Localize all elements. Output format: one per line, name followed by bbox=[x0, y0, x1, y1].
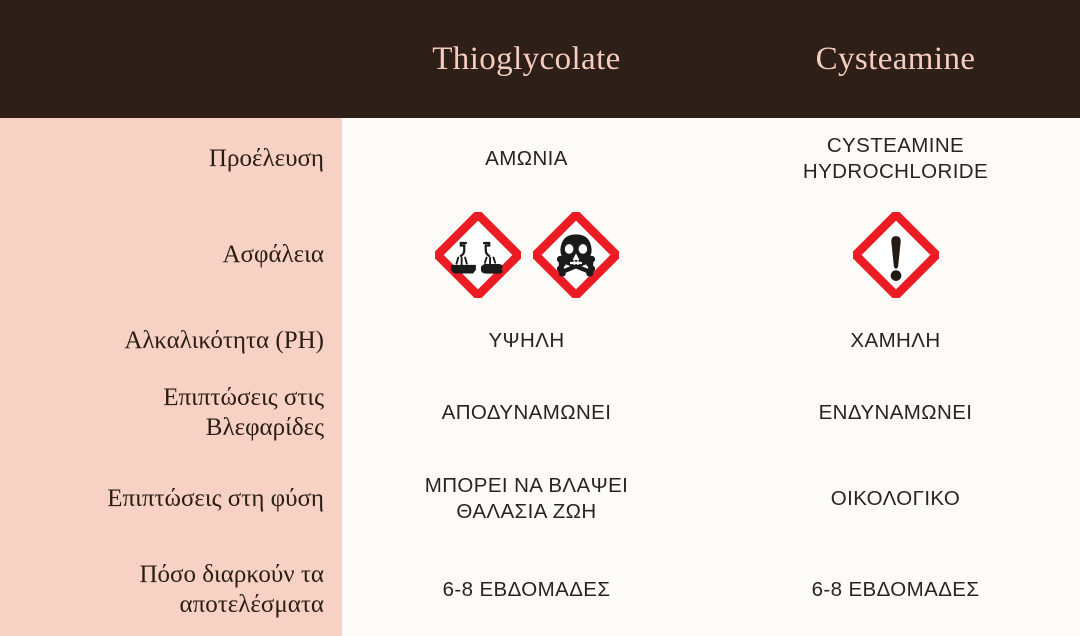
cell-thioglycolate-lash-effects: ΑΠΟΔΥΝΑΜΩΝΕΙ bbox=[342, 372, 711, 454]
cell-cysteamine-safety bbox=[711, 200, 1080, 310]
cell-value-text: ΕΝΔΥΝΑΜΩΝΕΙ bbox=[819, 400, 973, 426]
cell-thioglycolate-nature-effects: ΜΠΟΡΕΙ ΝΑ ΒΛΑΨΕΙΘΑΛΑΣΙΑ ΖΩΗ bbox=[342, 454, 711, 544]
header-title-thioglycolate: Thioglycolate bbox=[432, 41, 620, 78]
row-label-nature-effects: Επιπτώσεις στη φύση bbox=[0, 454, 342, 544]
cell-thioglycolate-origin: ΑΜΩΝΙΑ bbox=[342, 118, 711, 200]
table-row: Αλκαλικότητα (PH) ΥΨΗΛΗ ΧΑΜΗΛΗ bbox=[0, 310, 1080, 372]
header-column-cysteamine: Cysteamine bbox=[711, 0, 1080, 118]
row-label-text: Αλκαλικότητα (PH) bbox=[124, 326, 324, 357]
row-label-origin: Προέλευση bbox=[0, 118, 342, 200]
cell-value-text: ΥΨΗΛΗ bbox=[488, 328, 564, 354]
table-row: Επιπτώσεις στιςΒλεφαρίδες ΑΠΟΔΥΝΑΜΩΝΕΙ Ε… bbox=[0, 372, 1080, 454]
cell-value-text: 6-8 ΕΒΔΟΜΑΔΕΣ bbox=[443, 577, 611, 603]
cell-thioglycolate-safety bbox=[342, 200, 711, 310]
header-column-thioglycolate: Thioglycolate bbox=[342, 0, 711, 118]
row-label-text: Πόσο διαρκούν τααποτελέσματα bbox=[140, 560, 325, 621]
cell-value-text: ΑΠΟΔΥΝΑΜΩΝΕΙ bbox=[442, 400, 612, 426]
row-label-safety: Ασφάλεια bbox=[0, 200, 342, 310]
cell-cysteamine-alkalinity: ΧΑΜΗΛΗ bbox=[711, 310, 1080, 372]
row-label-alkalinity: Αλκαλικότητα (PH) bbox=[0, 310, 342, 372]
header-column-titles: Thioglycolate Cysteamine bbox=[342, 0, 1080, 118]
cell-thioglycolate-duration: 6-8 ΕΒΔΟΜΑΔΕΣ bbox=[342, 544, 711, 636]
pictogram-group bbox=[435, 212, 619, 298]
cell-value-text: 6-8 ΕΒΔΟΜΑΔΕΣ bbox=[812, 577, 980, 603]
table-body: Προέλευση ΑΜΩΝΙΑ CYSTEAMINEHYDROCHLORIDE… bbox=[0, 118, 1080, 636]
cell-value-text: CYSTEAMINEHYDROCHLORIDE bbox=[803, 133, 988, 185]
header-title-cysteamine: Cysteamine bbox=[816, 41, 976, 78]
table-row: Πόσο διαρκούν τααποτελέσματα 6-8 ΕΒΔΟΜΑΔ… bbox=[0, 544, 1080, 636]
cell-value-text: ΧΑΜΗΛΗ bbox=[850, 328, 940, 354]
ghs-skull-crossbones-icon bbox=[533, 212, 619, 298]
ghs-corrosion-icon bbox=[435, 212, 521, 298]
cell-value-text: ΟΙΚΟΛΟΓΙΚΟ bbox=[831, 486, 960, 512]
row-label-text: Προέλευση bbox=[209, 144, 324, 175]
cell-cysteamine-duration: 6-8 ΕΒΔΟΜΑΔΕΣ bbox=[711, 544, 1080, 636]
row-label-text: Επιπτώσεις στιςΒλεφαρίδες bbox=[163, 383, 324, 444]
cell-value-text: ΜΠΟΡΕΙ ΝΑ ΒΛΑΨΕΙΘΑΛΑΣΙΑ ΖΩΗ bbox=[425, 473, 629, 525]
table-row: Ασφάλεια bbox=[0, 200, 1080, 310]
comparison-table: Thioglycolate Cysteamine Προέλευση ΑΜΩΝΙ… bbox=[0, 0, 1080, 636]
cell-cysteamine-lash-effects: ΕΝΔΥΝΑΜΩΝΕΙ bbox=[711, 372, 1080, 454]
table-row: Επιπτώσεις στη φύση ΜΠΟΡΕΙ ΝΑ ΒΛΑΨΕΙΘΑΛΑ… bbox=[0, 454, 1080, 544]
pictogram-group bbox=[853, 212, 939, 298]
ghs-exclamation-mark-icon bbox=[853, 212, 939, 298]
table-row: Προέλευση ΑΜΩΝΙΑ CYSTEAMINEHYDROCHLORIDE bbox=[0, 118, 1080, 200]
row-label-lash-effects: Επιπτώσεις στιςΒλεφαρίδες bbox=[0, 372, 342, 454]
cell-cysteamine-nature-effects: ΟΙΚΟΛΟΓΙΚΟ bbox=[711, 454, 1080, 544]
row-label-text: Επιπτώσεις στη φύση bbox=[107, 484, 324, 515]
cell-thioglycolate-alkalinity: ΥΨΗΛΗ bbox=[342, 310, 711, 372]
row-label-text: Ασφάλεια bbox=[222, 240, 324, 271]
cell-value-text: ΑΜΩΝΙΑ bbox=[485, 146, 568, 172]
row-label-duration: Πόσο διαρκούν τααποτελέσματα bbox=[0, 544, 342, 636]
cell-cysteamine-origin: CYSTEAMINEHYDROCHLORIDE bbox=[711, 118, 1080, 200]
